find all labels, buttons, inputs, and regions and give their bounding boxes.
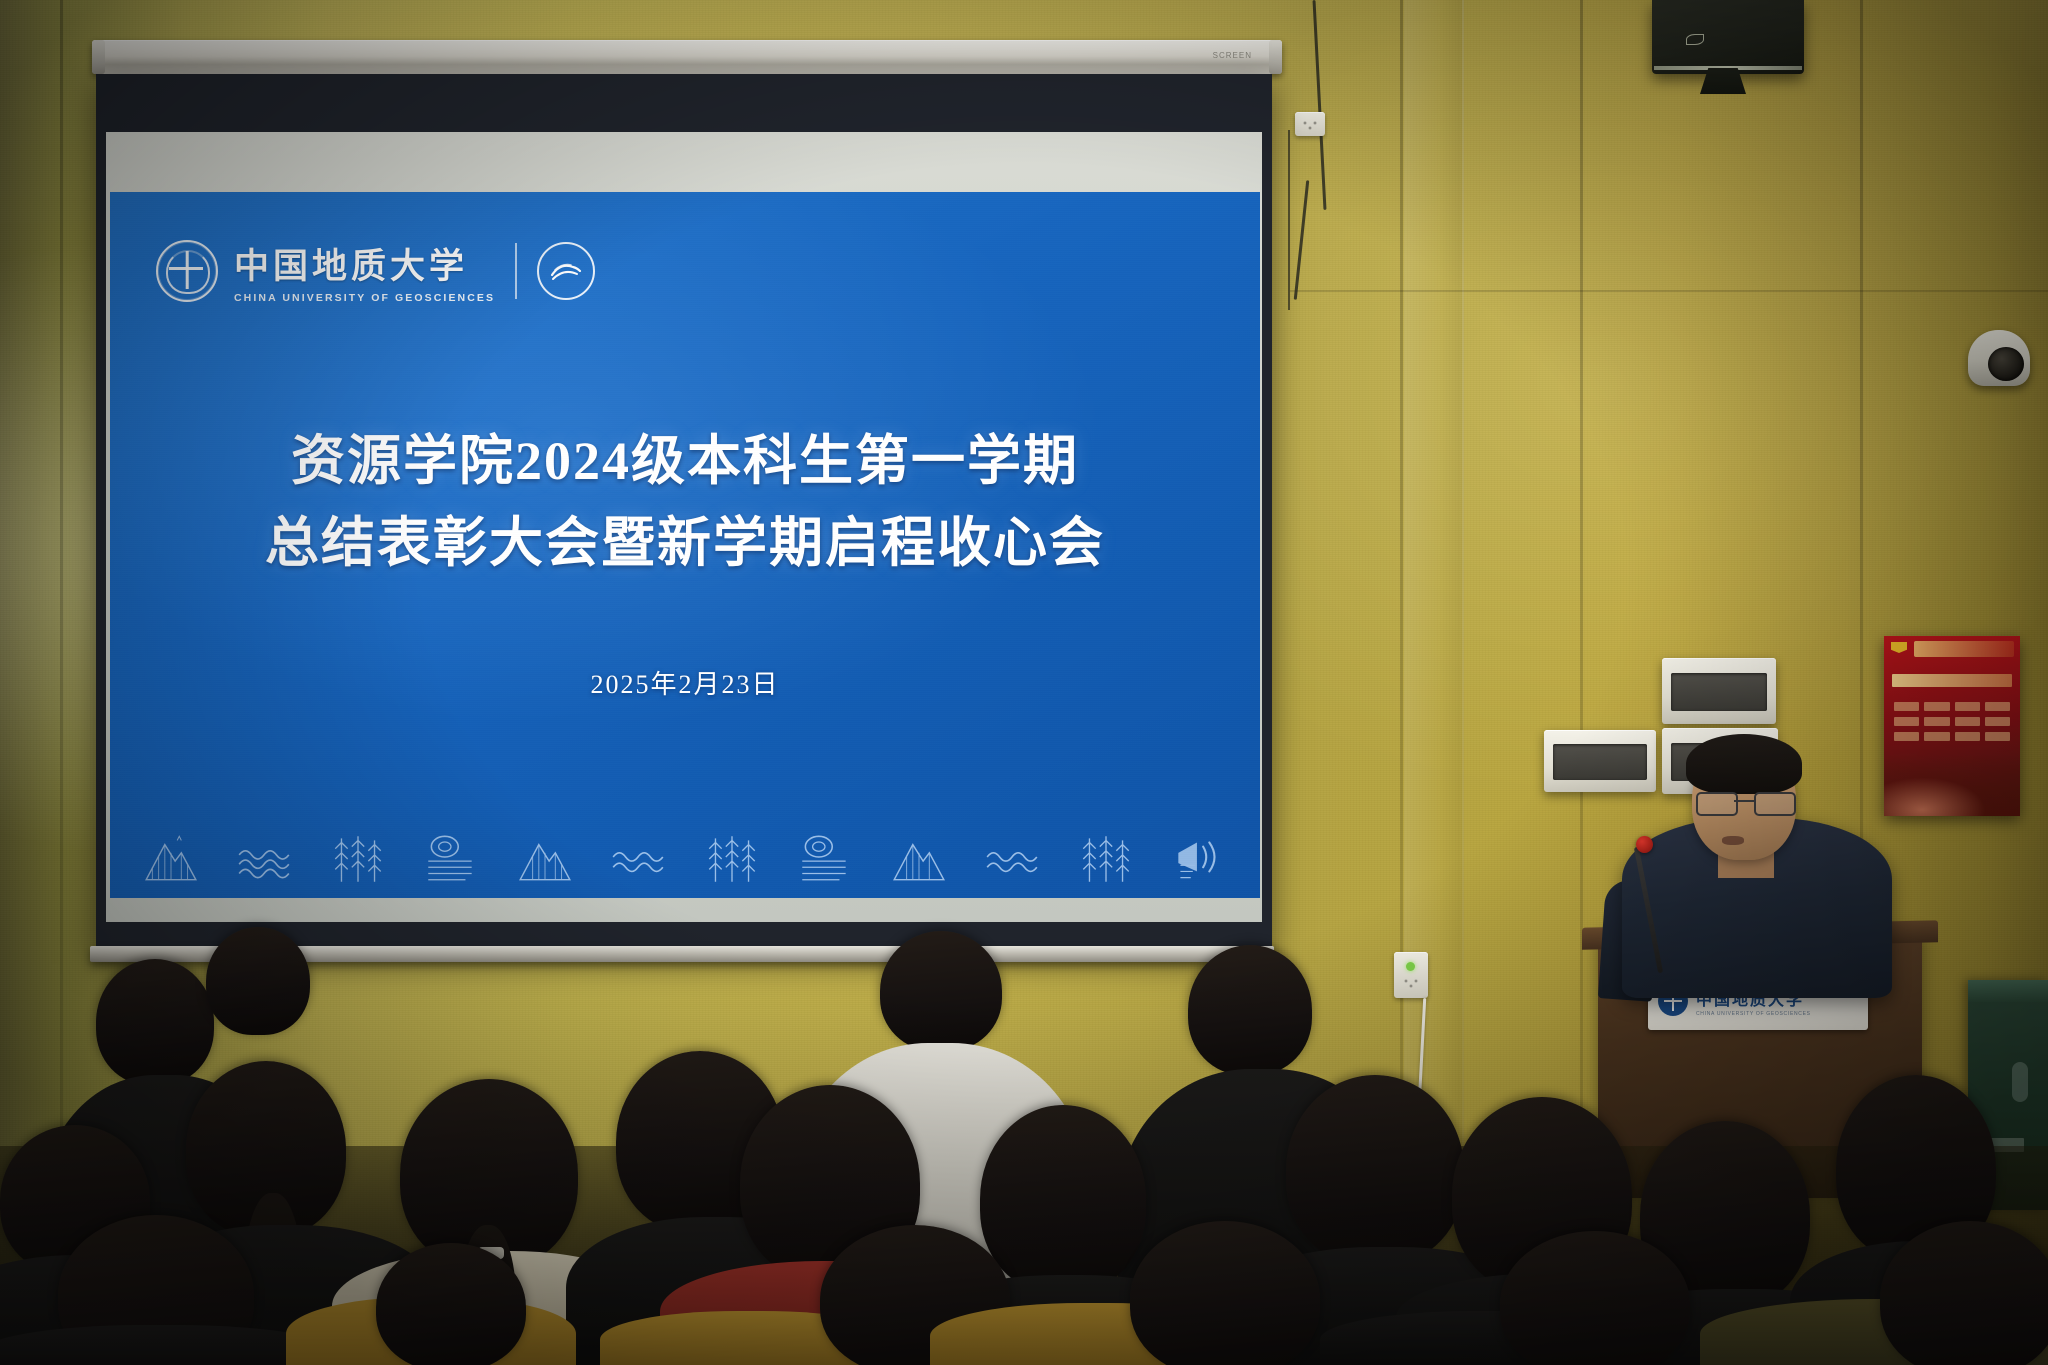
poster-value-cell (1955, 732, 1980, 741)
glasses-lens-right (1754, 792, 1796, 816)
poster-title-band (1892, 674, 2012, 687)
poster-value-cell (1894, 717, 1919, 726)
housing-cap-left (92, 40, 105, 74)
poster-value-cell (1955, 717, 1980, 726)
red-microphone-icon (1636, 836, 1653, 853)
panel-window (1553, 744, 1647, 780)
poster-value-cell (1985, 702, 2010, 711)
audience-head (1286, 1075, 1464, 1265)
poster-value-cell (1924, 732, 1949, 741)
poster-value-cell (1894, 702, 1919, 711)
cctv-camera-icon (1968, 330, 2030, 386)
poster-value-cell (1924, 717, 1949, 726)
electrical-panel-upper[interactable] (1662, 658, 1776, 724)
poster-value-cell (1894, 732, 1919, 741)
audience-head (1130, 1221, 1320, 1365)
socialist-core-values-poster (1884, 636, 2020, 816)
poster-value-cell (1924, 702, 1949, 711)
audience-head (1500, 1231, 1690, 1365)
party-emblem-icon (1891, 642, 1907, 653)
outlet-sockets-icon (1301, 120, 1319, 130)
housing-cap-right (1269, 40, 1282, 74)
audience-head (880, 931, 1002, 1051)
audience-head (376, 1243, 526, 1365)
electrical-panel-left[interactable] (1544, 730, 1656, 792)
pa-speaker-icon (1652, 0, 1804, 74)
poster-value-cell (1985, 717, 2010, 726)
audience-head (96, 959, 214, 1085)
poster-value-cell (1955, 702, 1980, 711)
wall-outlet-upper[interactable] (1295, 112, 1325, 136)
ceiling-cable (1288, 130, 1290, 310)
audience (0, 925, 2048, 1365)
speaker-mouth (1722, 836, 1744, 845)
projector-screen-housing[interactable]: SCREEN (92, 40, 1282, 74)
wall-trim-line (1290, 290, 2048, 292)
poster-header-band (1914, 641, 2014, 657)
poster-value-cell (1985, 732, 2010, 741)
slide-grain (110, 192, 1260, 898)
glasses-lens-left (1696, 792, 1738, 816)
screen-brand-badge: SCREEN (1213, 51, 1252, 60)
audience-head (1188, 945, 1312, 1075)
audience-head (980, 1105, 1146, 1293)
camera-lens-icon (1988, 347, 2024, 381)
speaker-brand-mark (1686, 34, 1704, 45)
presentation-slide: 中国地质大学 CHINA UNIVERSITY OF GEOSCIENCES 资… (110, 192, 1260, 898)
panel-window (1671, 673, 1767, 711)
speaker-hair (1686, 734, 1802, 794)
eyeglasses-icon (1696, 792, 1792, 812)
glasses-bridge (1734, 800, 1754, 802)
poster-artwork (1884, 754, 2020, 816)
auditorium-photo: SCREEN 中国地质大学 CHINA UNIVERSITY OF GEOSCI… (0, 0, 2048, 1365)
audience-head (206, 927, 310, 1035)
projector-screen: 中国地质大学 CHINA UNIVERSITY OF GEOSCIENCES 资… (96, 74, 1272, 954)
poster-values-grid (1894, 702, 2010, 741)
